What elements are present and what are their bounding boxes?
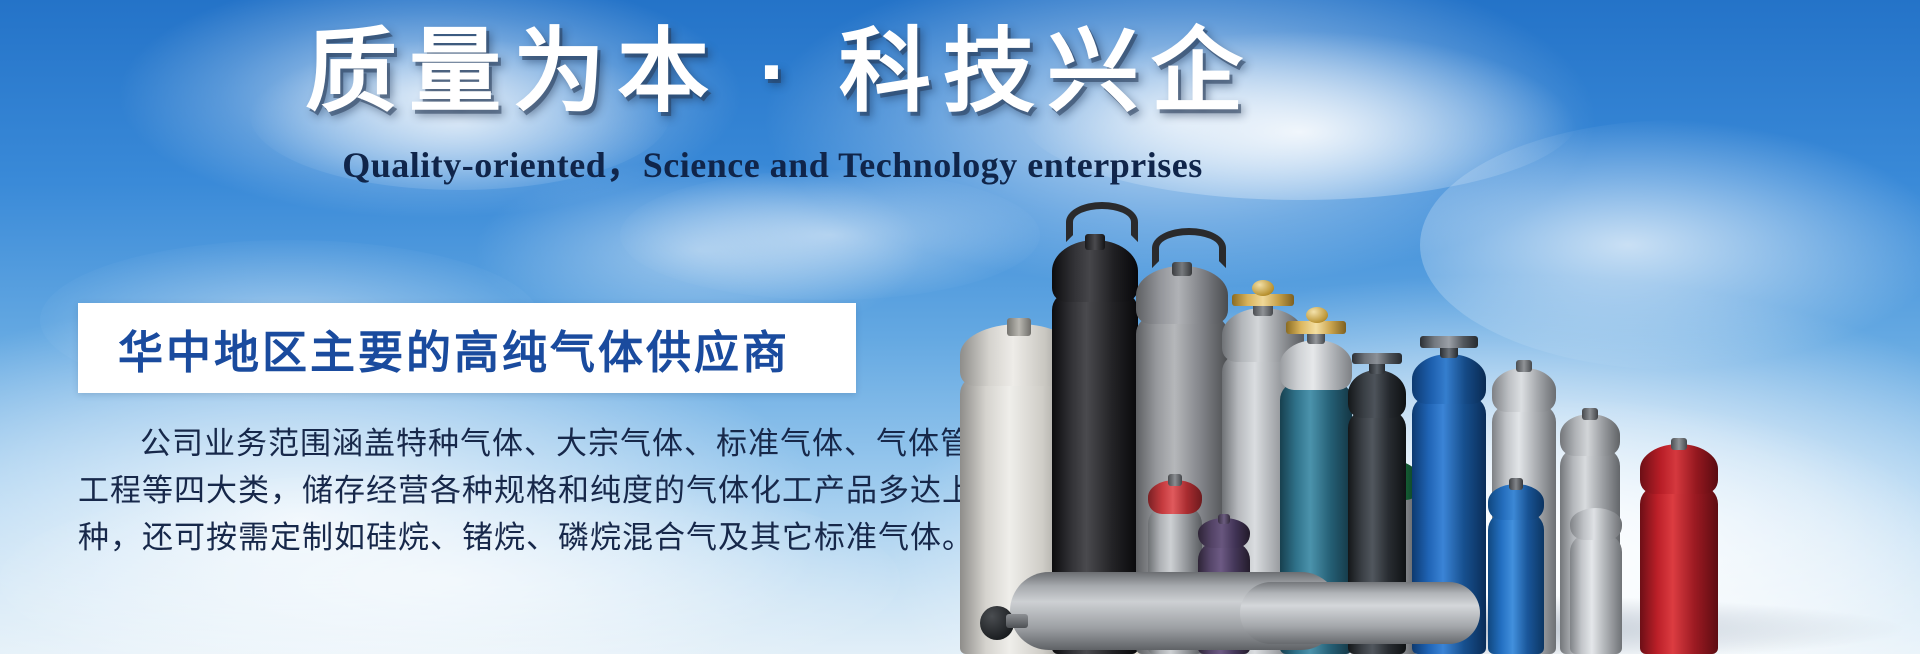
paragraph-line: 种，还可按需定制如硅烷、锗烷、磷烷混合气及其它标准气体。 bbox=[78, 514, 878, 561]
promo-banner: 质量为本 · 科技兴企 Quality-oriented，Science and… bbox=[0, 0, 1920, 654]
paragraph-line: 工程等四大类，储存经营各种规格和纯度的气体化工产品多达上百 bbox=[78, 467, 878, 514]
callout-box: 华中地区主要的高纯气体供应商 bbox=[78, 303, 856, 393]
red-bottle-cylinder bbox=[1640, 436, 1718, 654]
gas-cylinder-group bbox=[940, 150, 1920, 654]
banner-headline: 质量为本 · 科技兴企 bbox=[0, 22, 1560, 123]
tank-neck bbox=[1006, 614, 1028, 628]
cylinder-handle bbox=[1066, 202, 1138, 242]
horizontal-grey-tank-secondary bbox=[1240, 582, 1480, 644]
valve-knob bbox=[1306, 307, 1328, 323]
aluminium-right-cylinder bbox=[1570, 504, 1622, 654]
cylinder-valve bbox=[1420, 336, 1478, 348]
banner-paragraph: 公司业务范围涵盖特种气体、大宗气体、标准气体、气体管道 工程等四大类，储存经营各… bbox=[78, 420, 878, 561]
callout-text: 华中地区主要的高纯气体供应商 bbox=[78, 316, 790, 381]
cylinder-valve bbox=[1352, 353, 1402, 364]
paragraph-line: 公司业务范围涵盖特种气体、大宗气体、标准气体、气体管道 bbox=[78, 420, 878, 467]
cylinder-handle bbox=[1152, 228, 1226, 268]
blue-small-front-cylinder bbox=[1488, 476, 1544, 654]
valve-knob bbox=[1252, 280, 1274, 296]
